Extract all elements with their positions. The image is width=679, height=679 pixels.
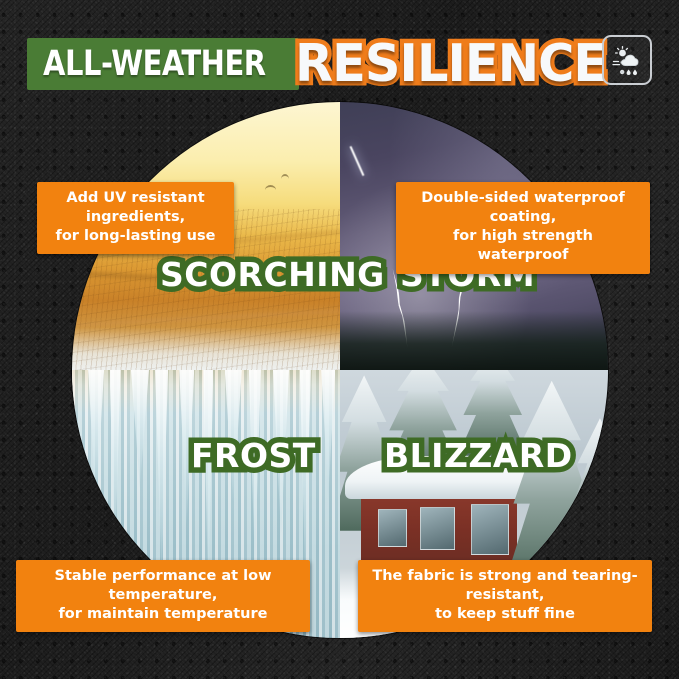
callout-line-2: for high strength waterproof	[406, 227, 640, 265]
label-scorching: SCORCHING	[160, 258, 385, 293]
header-banner: ALL-WEATHER RESILIENCE	[27, 33, 652, 95]
callout-line-2: for long-lasting use	[47, 227, 224, 246]
callout-line-1: Double-sided waterproof coating,	[406, 189, 640, 227]
callout-storm: Double-sided waterproof coating, for hig…	[396, 182, 650, 274]
cabin-window	[420, 507, 455, 550]
label-frost: FROST	[191, 439, 316, 474]
bird-icon	[265, 185, 276, 190]
callout-line-2: for maintain temperature	[26, 605, 300, 624]
storm-horizon	[340, 311, 608, 370]
title-part-one: ALL-WEATHER	[43, 44, 266, 84]
label-blizzard: BLIZZARD	[384, 439, 573, 474]
callout-line-1: Stable performance at low temperature,	[26, 567, 300, 605]
title-green-block: ALL-WEATHER	[27, 38, 299, 90]
cabin-window	[471, 504, 509, 555]
sun-cloud-rain-snow-icon	[602, 35, 652, 85]
title-part-two: RESILIENCE	[295, 34, 606, 94]
callout-line-1: Add UV resistant ingredients,	[47, 189, 224, 227]
callout-blizzard: The fabric is strong and tearing-resista…	[358, 560, 652, 632]
callout-line-2: to keep stuff fine	[368, 605, 642, 624]
title-orange-block: RESILIENCE	[295, 34, 623, 94]
lightning-bolt-icon	[350, 146, 365, 176]
bird-icon	[281, 174, 289, 179]
callout-frost: Stable performance at low temperature, f…	[16, 560, 310, 632]
poster-canvas: ALL-WEATHER RESILIENCE	[0, 0, 679, 679]
callout-line-1: The fabric is strong and tearing-resista…	[368, 567, 642, 605]
callout-scorching: Add UV resistant ingredients, for long-l…	[37, 182, 234, 254]
cabin-window	[378, 509, 407, 547]
